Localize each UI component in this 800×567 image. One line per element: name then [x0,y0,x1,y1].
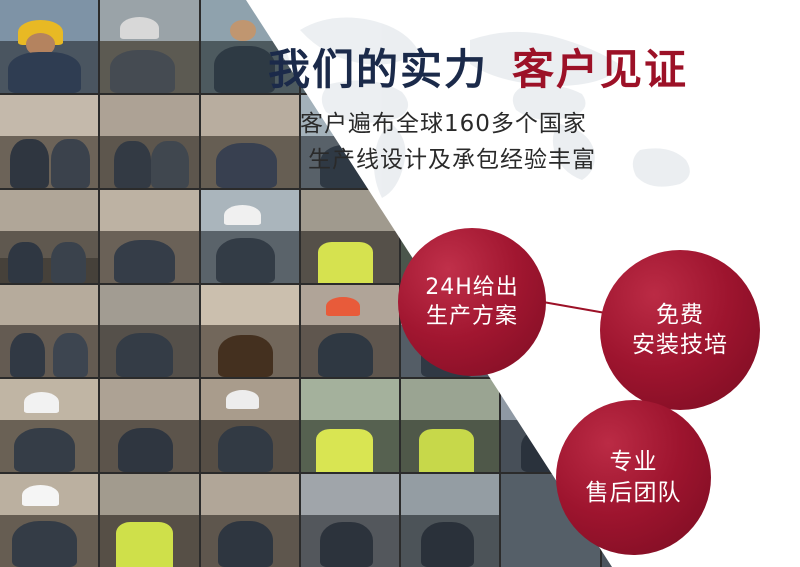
circle-24h: 24H给出 生产方案 [398,228,546,376]
circle-after-sales-line-1: 专业 [610,447,658,477]
collage-photo [401,379,499,472]
collage-photo [100,285,198,378]
collage-photo [0,95,98,188]
circle-after-sales: 专业 售后团队 [556,400,711,555]
collage-photo [401,474,499,567]
circle-after-sales-line-2: 售后团队 [586,478,682,508]
subtitle-block: 客户遍布全球160多个国家 生产线设计及承包经验丰富 [300,106,800,178]
circle-24h-line-1: 24H给出 [425,273,519,302]
headline-red-text: 客户见证 [512,36,688,97]
subtitle-line-1: 客户遍布全球160多个国家 [300,106,800,142]
subtitle-line-2: 生产线设计及承包经验丰富 [300,142,800,178]
collage-photo [100,379,198,472]
collage-photo [201,474,299,567]
collage-photo [0,474,98,567]
collage-photo [0,285,98,378]
collage-photo [301,285,399,378]
collage-photo [0,379,98,472]
promotional-poster: 我们的实力 客户见证 客户遍布全球160多个国家 生产线设计及承包经验丰富 24… [0,0,800,567]
collage-photo [100,190,198,283]
collage-photo [301,379,399,472]
circle-free-install: 免费 安装技培 [600,250,760,410]
collage-photo [100,0,198,93]
collage-photo [201,95,299,188]
collage-photo [100,95,198,188]
circle-free-install-line-2: 安装技培 [632,330,728,360]
collage-photo [0,190,98,283]
headline: 我们的实力 客户见证 [268,36,788,97]
collage-photo [201,379,299,472]
collage-photo [201,190,299,283]
collage-photo [100,474,198,567]
collage-photo [301,474,399,567]
collage-photo [0,0,98,93]
collage-photo [201,285,299,378]
headline-dark-text: 我们的实力 [268,36,488,97]
circle-24h-line-2: 生产方案 [426,302,518,331]
circle-free-install-line-1: 免费 [656,300,704,330]
